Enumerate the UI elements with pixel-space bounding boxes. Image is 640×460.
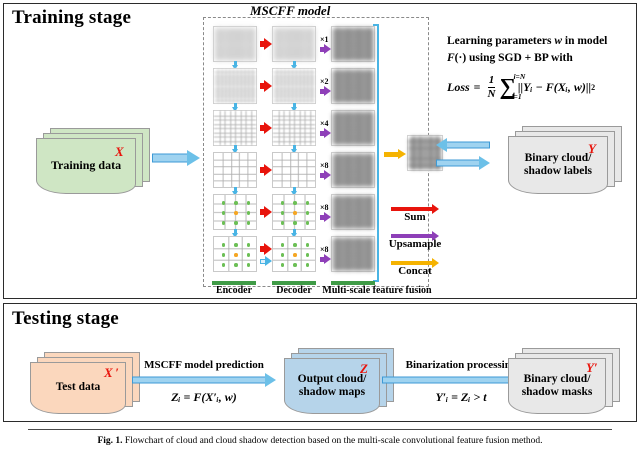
fusion-tile (331, 110, 375, 146)
arrow-head (265, 256, 272, 266)
feature-dot (234, 221, 238, 225)
feature-dot (306, 211, 310, 215)
encoder-tile (213, 152, 257, 188)
loss-label: Loss (447, 80, 470, 95)
caption-divider (28, 429, 612, 430)
binary-labels-line2: shadow labels (524, 165, 592, 178)
feature-dot (234, 253, 238, 257)
testing-stage-title: Testing stage (12, 308, 119, 330)
mscff-model-title: MSCFF model (250, 3, 330, 19)
feature-dot (293, 263, 297, 267)
feature-dot (247, 243, 251, 247)
prediction-arrow (132, 373, 276, 387)
feature-dot (293, 243, 297, 247)
label-feedback-arrow (436, 138, 490, 152)
sum-arrow (260, 207, 272, 217)
arrow-shaft (391, 234, 432, 238)
feature-dot (306, 263, 310, 267)
arrow-head (324, 212, 331, 222)
arrow-shaft (446, 142, 490, 149)
upsample-scale-label: ×8 (320, 203, 329, 212)
arrow-head (324, 254, 331, 264)
sum-arrow (260, 165, 272, 175)
arrow-head (264, 243, 272, 255)
binary-masks-stack: Binary cloud/ shadow masks Y′ (508, 348, 624, 416)
legend-sum-label: Sum (375, 211, 455, 223)
caption-text: Flowchart of cloud and cloud shadow dete… (125, 436, 543, 446)
training-data-stack: Training data X (36, 128, 152, 196)
arrow-shaft (152, 154, 192, 163)
feature-dot (247, 201, 251, 205)
lp-text-a: Learning parameters (447, 35, 554, 47)
legend-concat-label: Concat (375, 265, 455, 277)
loss-formula: Loss = 1 N i=N ∑ i=1 ||Yᵢ − F(Xᵢ, w)||2 (447, 75, 633, 100)
sgd-bp-line: F(·) using SGD + BP with (447, 50, 633, 67)
sum-arrow (260, 123, 272, 133)
lp-text-b: in model (562, 35, 607, 47)
encoder-tile (213, 68, 257, 104)
feature-dot (306, 243, 310, 247)
upsample-arrow (320, 129, 331, 138)
encoder-tile (213, 26, 257, 62)
upsample-scale-label: ×2 (320, 77, 329, 86)
feature-dot (293, 201, 297, 205)
arrow-head (264, 38, 272, 50)
binary-labels-stack: Binary cloud/ shadow labels Y (508, 126, 624, 198)
feature-dot (293, 253, 297, 257)
frac-num: 1 (489, 75, 495, 87)
encoder-tile (213, 194, 257, 230)
feature-dot (247, 221, 251, 225)
encoder-tile (213, 236, 257, 272)
legend-upsample-label: Upsamaple (375, 238, 455, 250)
feature-dot (306, 253, 310, 257)
binary-labels-line1: Binary cloud/ (525, 152, 592, 165)
upsample-scale-label: ×4 (320, 119, 329, 128)
lp-w: w (554, 35, 562, 47)
norm-expression: ||Yᵢ − F(Xᵢ, w)|| (518, 80, 591, 95)
feature-dot (234, 201, 238, 205)
arrow-shaft (382, 377, 520, 384)
prediction-arrow-formula: Zᵢ = F(X′ᵢ, w) (128, 390, 280, 405)
feature-dot (293, 211, 297, 215)
arrow-head (187, 150, 200, 166)
downsample-link-arrow (260, 257, 272, 266)
arrow-head (324, 170, 331, 180)
fn-F: F (447, 52, 455, 64)
upsample-arrow (320, 213, 331, 222)
arrow-shaft (436, 160, 480, 167)
upsample-arrow (320, 87, 331, 96)
concat-arrow (384, 150, 406, 159)
feature-dot (234, 211, 238, 215)
training-stage-title: Training stage (12, 7, 131, 29)
one-over-n: 1 N (488, 75, 496, 100)
upsample-scale-label: ×8 (320, 245, 329, 254)
decoder-label: Decoder (266, 285, 322, 296)
training-data-variable: X (115, 144, 124, 160)
arrow-head (398, 149, 406, 159)
norm-exponent: 2 (591, 83, 595, 92)
arrow-head (264, 164, 272, 176)
sgd-text: (·) using SGD + BP with (455, 52, 573, 64)
encoder-tile (213, 110, 257, 146)
arrow-head (324, 86, 331, 96)
sum-upper: i=N (513, 72, 525, 81)
training-input-arrow (152, 150, 200, 166)
fusion-label: Multi-scale feature fusion (322, 285, 432, 296)
arrow-head (264, 80, 272, 92)
fusion-tile (331, 26, 375, 62)
loss-equals: = (474, 80, 481, 95)
arrow-shaft (384, 152, 399, 157)
upsample-scale-label: ×1 (320, 35, 329, 44)
learning-parameters-line: Learning parameters w in model (447, 33, 633, 50)
feature-dot (234, 263, 238, 267)
test-data-variable: X ′ (104, 365, 119, 381)
summation: i=N ∑ i=1 (499, 77, 515, 97)
label-forward-arrow (436, 156, 490, 170)
encoder-label: Encoder (206, 285, 262, 296)
sum-arrow (260, 39, 272, 49)
output-maps-line2: shadow maps (299, 386, 365, 399)
feature-dot (306, 201, 310, 205)
arrow-head (264, 206, 272, 218)
arrow-shaft (391, 261, 432, 265)
arrow-head (324, 44, 331, 54)
fusion-tile (331, 152, 375, 188)
decoder-tile (272, 236, 316, 272)
fusion-tile (331, 194, 375, 230)
upsample-arrow (320, 171, 331, 180)
prediction-arrow-label: MSCFF model prediction (128, 359, 280, 371)
arrow-head (436, 138, 447, 152)
output-maps-line1: Output cloud/ (298, 373, 367, 386)
decoder-tile (272, 194, 316, 230)
sum-arrow (260, 244, 272, 254)
arrow-shaft (132, 377, 266, 384)
decoder-tile (272, 68, 316, 104)
arrow-head (324, 128, 331, 138)
arrow-head (264, 122, 272, 134)
caption-prefix: Fig. 1. (97, 436, 122, 446)
feature-dot (234, 243, 238, 247)
decoder-tile (272, 152, 316, 188)
arrow-shaft (391, 207, 432, 211)
decoder-tile (272, 110, 316, 146)
loss-equation-block: Learning parameters w in model F(·) usin… (447, 33, 633, 100)
binary-labels-variable: Y (588, 141, 596, 157)
binary-masks-line1: Binary cloud/ (524, 373, 591, 386)
feature-dot (306, 221, 310, 225)
figure-caption: Fig. 1. Flowchart of cloud and cloud sha… (0, 436, 640, 446)
upsample-arrow (320, 45, 331, 54)
arrow-head (265, 373, 276, 387)
feature-dot (247, 211, 251, 215)
arrow-head (479, 156, 490, 170)
binary-masks-variable: Y′ (586, 360, 598, 376)
feature-dot (247, 263, 251, 267)
binary-masks-line2: shadow masks (522, 386, 593, 399)
frac-den: N (488, 87, 496, 100)
upsample-arrow (320, 255, 331, 264)
upsample-scale-label: ×8 (320, 161, 329, 170)
sum-arrow (260, 81, 272, 91)
fusion-tile (331, 68, 375, 104)
sum-lower: i=1 (511, 92, 521, 101)
output-maps-variable: Z (360, 361, 368, 377)
feature-dot (247, 253, 251, 257)
fusion-tile (331, 236, 375, 272)
feature-dot (293, 221, 297, 225)
decoder-tile (272, 26, 316, 62)
